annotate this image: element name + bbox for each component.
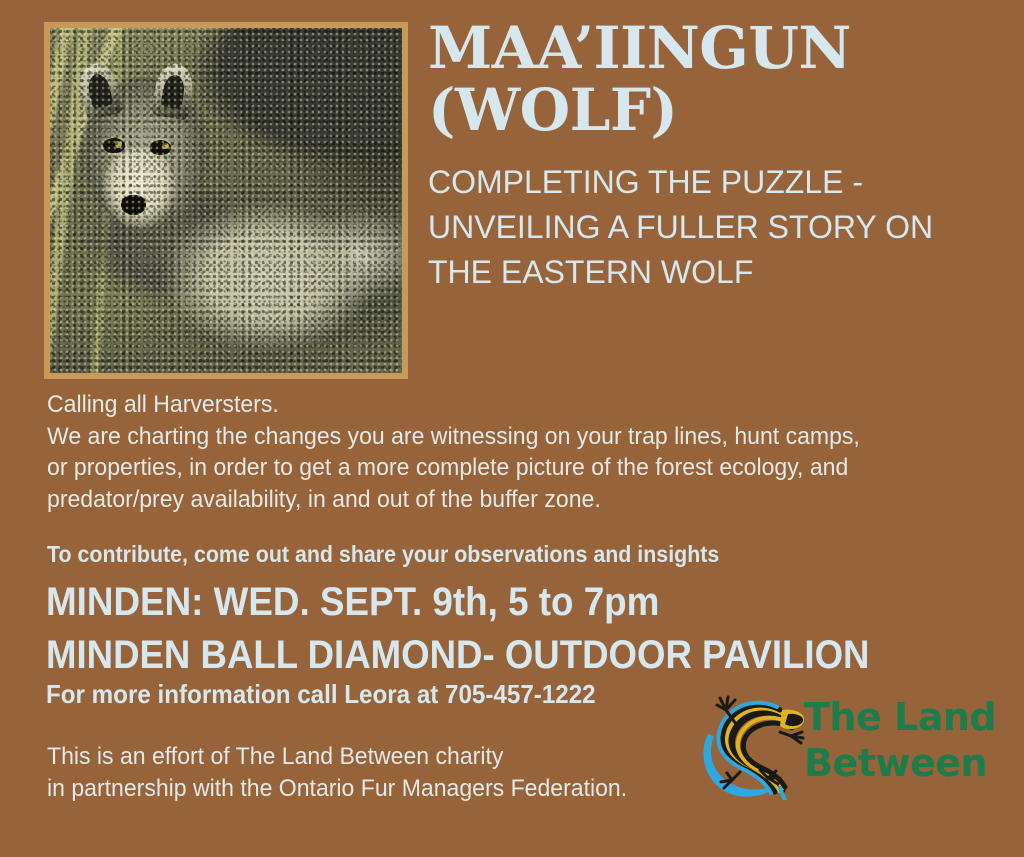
event-venue-line: MINDEN BALL DIAMOND- OUTDOOR PAVILION [46,631,869,679]
body-line-4: predator/prey availability, in and out o… [47,484,930,516]
logo-word-line-2: Between [804,740,996,786]
photo-texture-layer-b [50,28,402,373]
footer-attribution: This is an effort of The Land Between ch… [47,741,627,805]
wolf-photo [50,28,402,373]
body-paragraph: Calling all Harversters. We are charting… [47,389,930,515]
subtitle-line-2: UNVEILING A FULLER STORY ON [428,205,1000,250]
title-line-1: MAA’IINGUN [428,17,998,79]
body-line-2: We are charting the changes you are witn… [47,421,930,453]
land-between-logo: The Land Between [694,688,1000,800]
body-line-1: Calling all Harversters. [47,389,930,421]
event-date-line: MINDEN: WED. SEPT. 9th, 5 to 7pm [46,578,659,626]
wolf-photo-frame [44,22,408,379]
skink-lizard-icon [694,688,814,800]
poster-title: MAA’IINGUN (WOLF) [428,17,998,141]
contribute-callout: To contribute, come out and share your o… [47,541,719,567]
footer-line-1: This is an effort of The Land Between ch… [47,741,627,773]
logo-wordmark: The Land Between [804,694,996,786]
subtitle-line-3: THE EASTERN WOLF [428,250,1000,295]
subtitle-line-1: COMPLETING THE PUZZLE - [428,160,1000,205]
footer-line-2: in partnership with the Ontario Fur Mana… [47,773,627,805]
event-phone-line: For more information call Leora at 705-4… [46,678,596,710]
event-poster: MAA’IINGUN (WOLF) COMPLETING THE PUZZLE … [0,0,1024,857]
poster-subtitle: COMPLETING THE PUZZLE - UNVEILING A FULL… [428,160,1000,295]
title-line-2: (WOLF) [428,79,998,141]
body-line-3: or properties, in order to get a more co… [47,452,930,484]
logo-word-line-1: The Land [804,694,996,740]
